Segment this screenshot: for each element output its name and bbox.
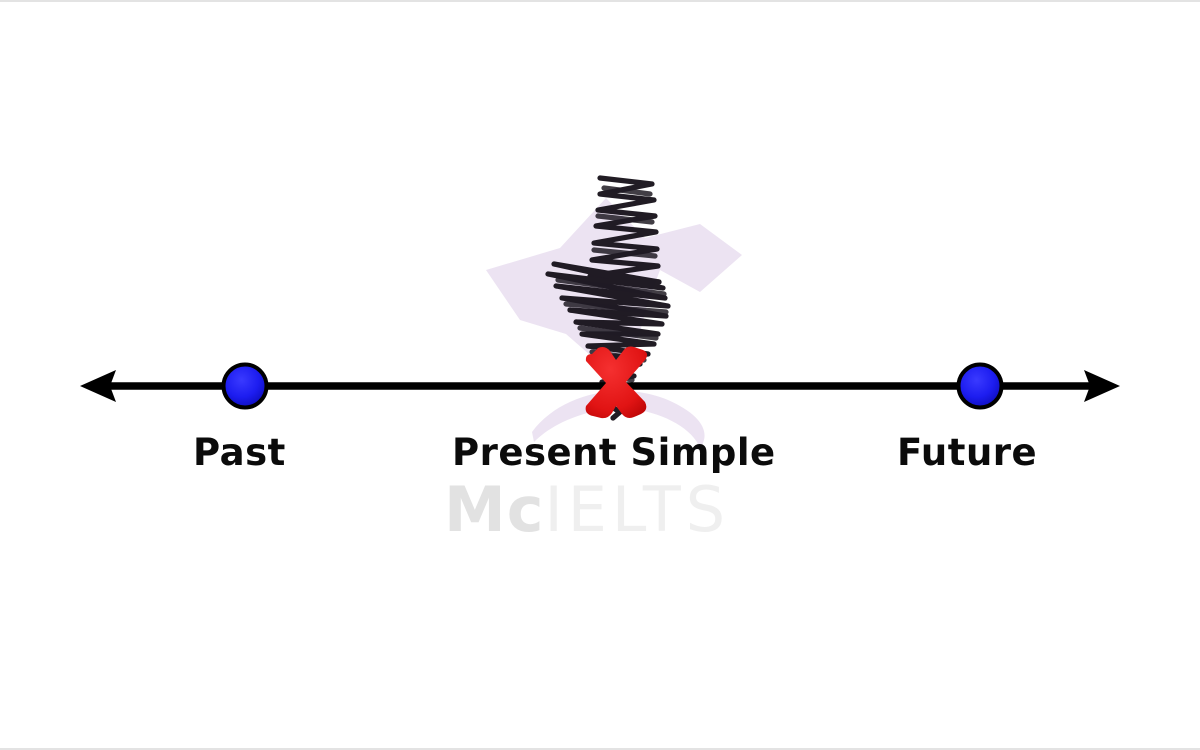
past-marker-dot <box>224 365 267 408</box>
timeline-svg <box>0 2 1200 750</box>
future-marker-dot <box>959 365 1002 408</box>
diagram-canvas: Past Present Simple Future McIELTS <box>0 0 1200 750</box>
